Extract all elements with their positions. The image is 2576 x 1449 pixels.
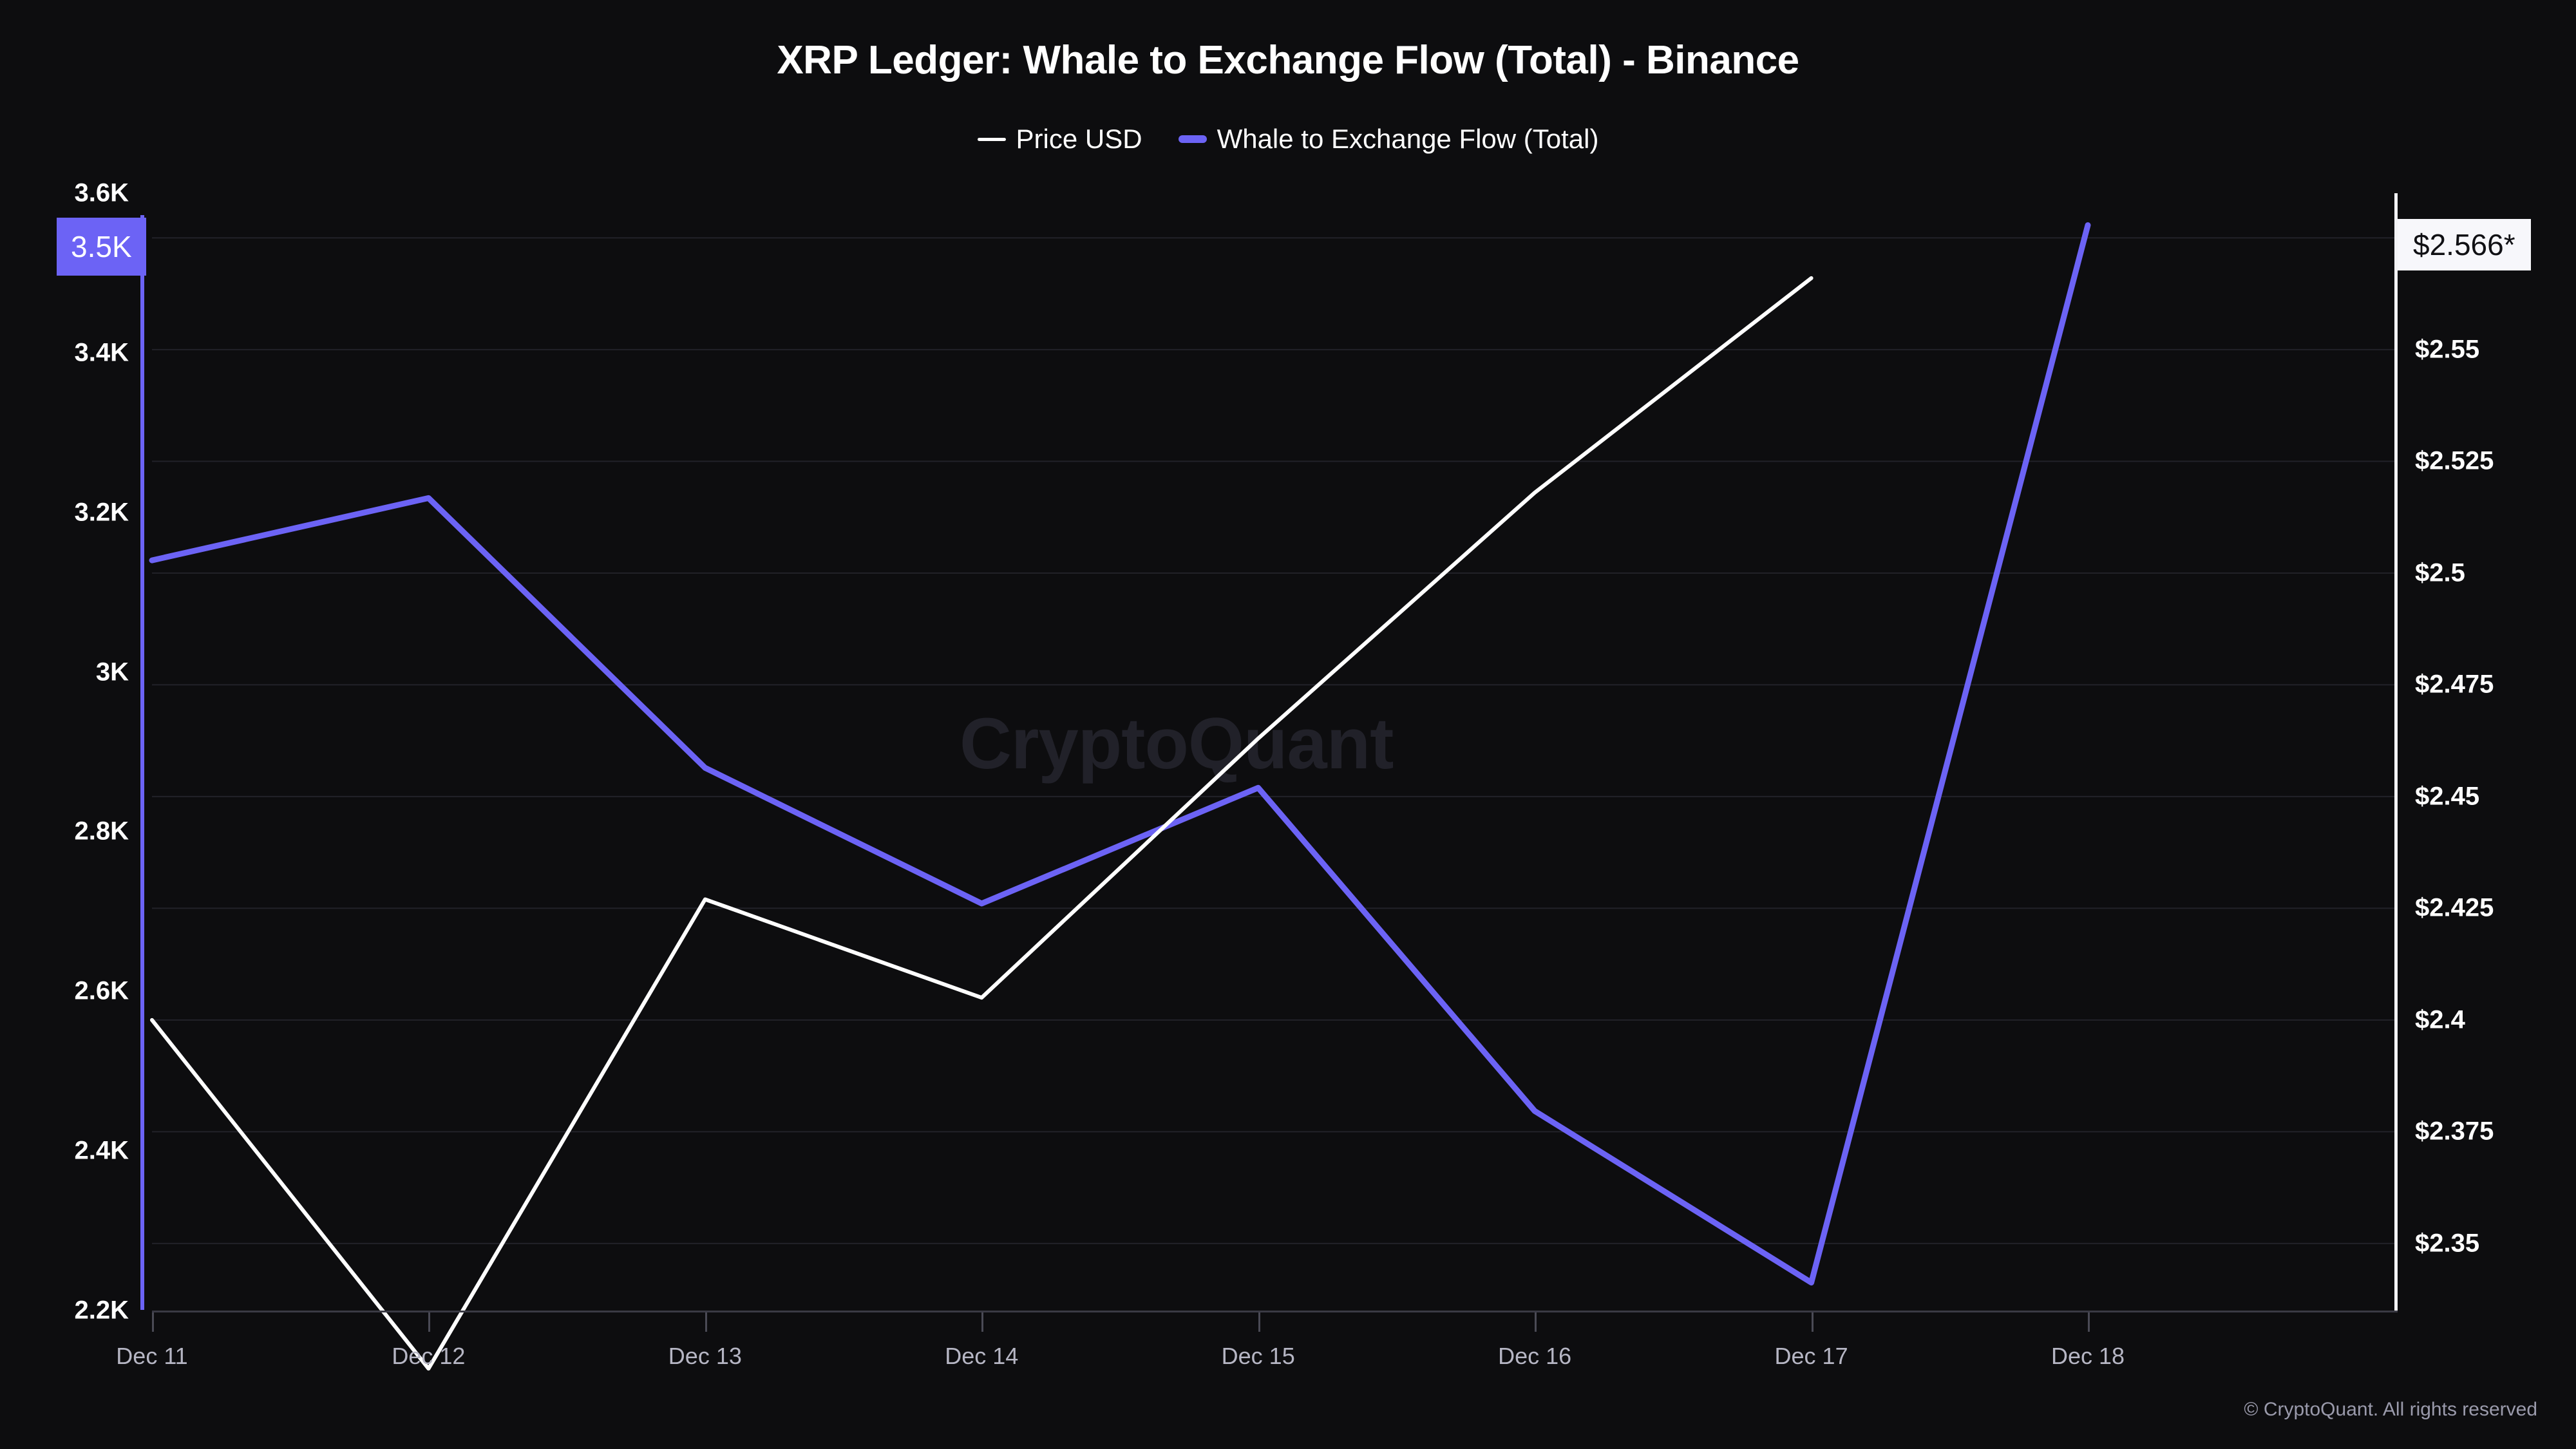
copyright-footer: © CryptoQuant. All rights reserved (2244, 1399, 2537, 1421)
y-axis-right-tick-label: $2.55 (2415, 335, 2479, 364)
plot-area (152, 193, 2396, 1311)
legend-item-price-usd[interactable]: Price USD (978, 124, 1142, 155)
x-axis-tick-mark (2088, 1312, 2090, 1332)
y-axis-left-tick-label: 3.2K (6, 498, 129, 527)
axis-spine-left (140, 215, 144, 1310)
y-axis-left-tick-label: 2.8K (6, 817, 129, 846)
y-axis-right-tick-label: $2.4 (2415, 1005, 2465, 1034)
x-axis-tick-mark (1258, 1312, 1260, 1332)
y-axis-right-tick-label: $2.5 (2415, 558, 2465, 587)
y-axis-left-tick-label: 2.2K (6, 1296, 129, 1325)
x-axis-tick-label: Dec 17 (1775, 1343, 1848, 1370)
x-axis-tick-label: Dec 16 (1498, 1343, 1571, 1370)
x-axis-tick-label: Dec 11 (116, 1343, 187, 1370)
y-axis-right-tick-label: $2.35 (2415, 1229, 2479, 1258)
y-axis-right-tick-label: $2.475 (2415, 670, 2494, 699)
axis-spine-right (2394, 193, 2398, 1311)
legend-item-whale-flow[interactable]: Whale to Exchange Flow (Total) (1179, 124, 1599, 155)
y-axis-left-tick-label: 3.4K (6, 338, 129, 367)
y-axis-right-tick-label: $2.425 (2415, 894, 2494, 923)
legend-label-flow: Whale to Exchange Flow (Total) (1217, 124, 1599, 155)
x-axis-tick-mark (1812, 1312, 1814, 1332)
y-axis-left-tick-label-occluded: 3.6K (6, 179, 129, 208)
x-axis-tick-mark (1535, 1312, 1537, 1332)
gridlines-group (152, 238, 2396, 1244)
right-axis-highlight-badge: $2.566* (2398, 219, 2531, 270)
x-axis-tick-label: Dec 12 (392, 1343, 465, 1370)
x-axis-tick-mark (981, 1312, 983, 1332)
legend-label-price: Price USD (1016, 124, 1142, 155)
x-axis-tick-mark (428, 1312, 430, 1332)
x-axis-tick-label: Dec 14 (945, 1343, 1018, 1370)
page-title: XRP Ledger: Whale to Exchange Flow (Tota… (0, 37, 2576, 83)
series-line-whale-flow (152, 225, 2088, 1283)
x-axis-tick-label: Dec 15 (1222, 1343, 1295, 1370)
legend-swatch-price-icon (978, 138, 1006, 141)
x-axis-tick-label: Dec 13 (668, 1343, 742, 1370)
x-axis-tick-mark (705, 1312, 707, 1332)
y-axis-left-tick-label: 3K (6, 658, 129, 687)
y-axis-left-tick-label: 2.6K (6, 977, 129, 1006)
plot-svg (152, 193, 2396, 1311)
x-axis-tick-label: Dec 18 (2051, 1343, 2125, 1370)
y-axis-left-tick-label: 2.4K (6, 1137, 129, 1166)
legend-swatch-flow-icon (1179, 135, 1207, 143)
chart-legend: Price USD Whale to Exchange Flow (Total) (0, 124, 2576, 155)
chart-container: XRP Ledger: Whale to Exchange Flow (Tota… (0, 0, 2576, 1449)
axis-line-x (152, 1311, 2398, 1312)
left-axis-highlight-badge: 3.5K (57, 218, 146, 276)
y-axis-right-tick-label: $2.45 (2415, 782, 2479, 811)
y-axis-right-tick-label: $2.525 (2415, 447, 2494, 476)
y-axis-right-tick-label: $2.375 (2415, 1117, 2494, 1146)
series-line-price-usd (152, 278, 1812, 1368)
x-axis-tick-mark (152, 1312, 154, 1332)
